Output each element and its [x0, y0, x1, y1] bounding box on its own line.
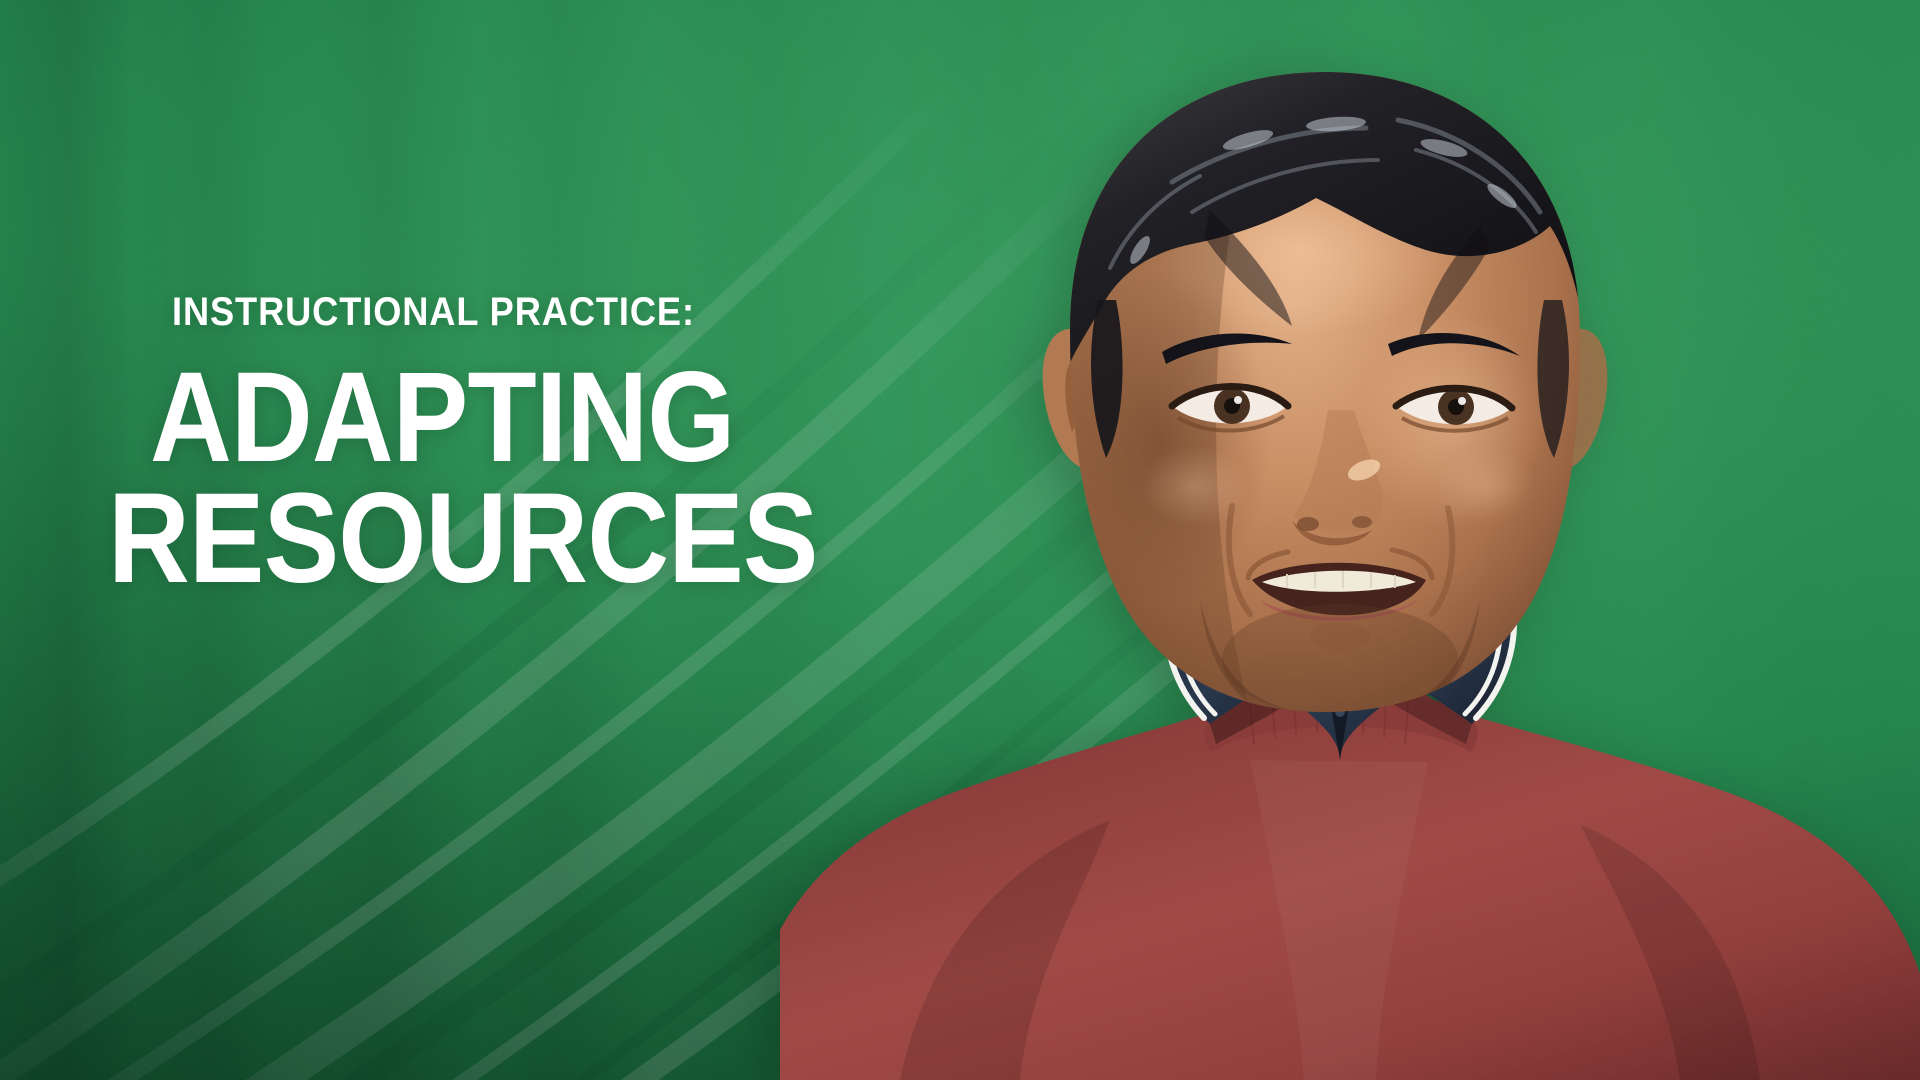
- title-block: INSTRUCTIONAL PRACTICE: ADAPTING RESOURC…: [108, 292, 1028, 598]
- headline-line-2: RESOURCES: [108, 479, 922, 598]
- presenter-eye-right: [1396, 388, 1512, 431]
- presenter-torso: [780, 689, 1920, 1080]
- title-card-slide: INSTRUCTIONAL PRACTICE: ADAPTING RESOURC…: [0, 0, 1920, 1080]
- eyebrow-text: INSTRUCTIONAL PRACTICE:: [172, 292, 947, 332]
- presenter-head: [1050, 62, 1586, 730]
- headline-line-1: ADAPTING: [150, 358, 927, 477]
